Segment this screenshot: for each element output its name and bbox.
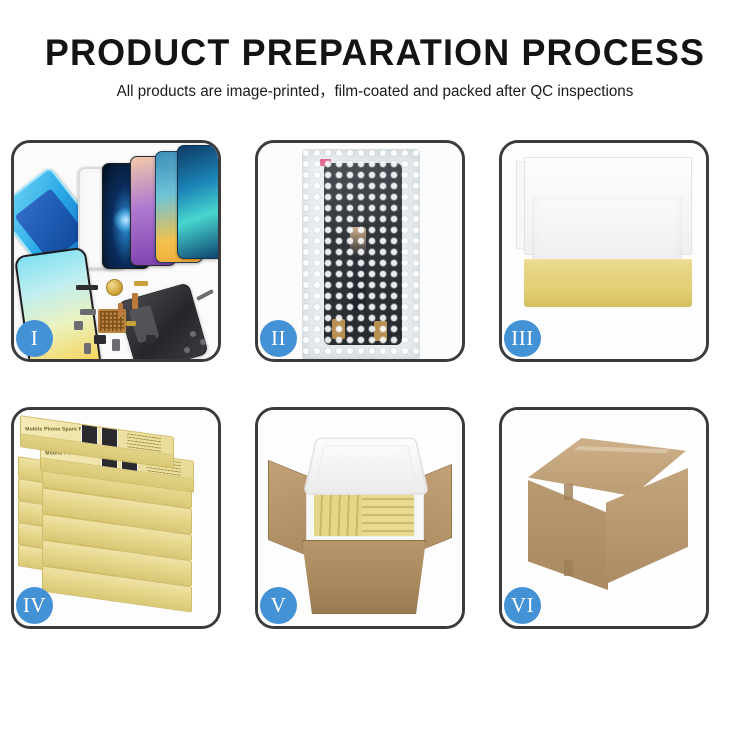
small-part bbox=[76, 285, 98, 290]
process-step-1[interactable]: I bbox=[11, 140, 221, 362]
small-part bbox=[126, 321, 136, 326]
foam-sheet bbox=[532, 197, 682, 267]
step-badge-3: III bbox=[504, 320, 541, 357]
small-part bbox=[80, 309, 96, 315]
yellow-box-body bbox=[524, 263, 692, 307]
screw-part bbox=[190, 331, 196, 337]
carton-front bbox=[302, 540, 426, 614]
small-part bbox=[112, 339, 120, 351]
step-badge-2: II bbox=[260, 320, 297, 357]
small-part bbox=[94, 335, 106, 344]
carton-seam bbox=[564, 560, 573, 576]
process-step-2[interactable]: II bbox=[255, 140, 465, 362]
small-part bbox=[74, 321, 83, 330]
screw-part bbox=[200, 339, 206, 345]
box-label-phone-image bbox=[81, 423, 98, 447]
process-step-4[interactable]: Mobile Phone Spare Parts Mobile Phone Sp… bbox=[11, 407, 221, 629]
page-title: PRODUCT PREPARATION PROCESS bbox=[11, 30, 739, 76]
process-step-5[interactable]: V bbox=[255, 407, 465, 629]
step-badge-6: VI bbox=[504, 587, 541, 624]
bubble-bag bbox=[302, 149, 420, 359]
process-grid: I II bbox=[11, 140, 741, 629]
small-part bbox=[134, 281, 148, 286]
phone-screen-cyan bbox=[177, 145, 218, 259]
packed-boxes-side bbox=[362, 492, 414, 536]
header: PRODUCT PREPARATION PROCESS All products… bbox=[0, 0, 750, 103]
step-badge-1: I bbox=[16, 320, 53, 357]
process-step-3[interactable]: III bbox=[499, 140, 709, 362]
small-part bbox=[118, 303, 123, 317]
step-badge-5: V bbox=[260, 587, 297, 624]
styrofoam-lid bbox=[303, 438, 430, 495]
screw-part bbox=[184, 347, 190, 353]
process-step-6[interactable]: VI bbox=[499, 407, 709, 629]
speaker-part bbox=[106, 279, 123, 296]
page-subtitle: All products are image-printed，film-coat… bbox=[8, 81, 743, 103]
carton-seam bbox=[564, 484, 573, 500]
step-badge-4: IV bbox=[16, 587, 53, 624]
small-part bbox=[84, 343, 91, 354]
small-part bbox=[146, 335, 156, 343]
small-part bbox=[132, 293, 138, 309]
box-label-phone-image bbox=[101, 425, 118, 449]
box-label-spec-lines bbox=[127, 430, 161, 453]
